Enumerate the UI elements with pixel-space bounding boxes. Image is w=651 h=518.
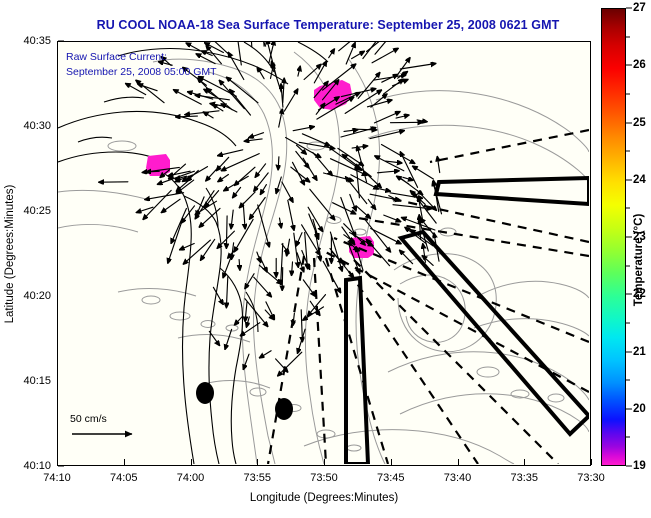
colorbar-label: Temperature (°C)	[630, 150, 648, 370]
station-marker	[275, 398, 293, 420]
colorbar-minor-tick	[626, 437, 630, 438]
current-vector	[393, 80, 409, 86]
current-vector	[224, 176, 249, 191]
current-vector	[374, 75, 406, 80]
current-vector	[230, 90, 251, 116]
x-tick-label: 74:10	[43, 472, 71, 484]
current-vector	[276, 359, 288, 372]
current-vector	[363, 42, 385, 59]
x-tick-label: 73:55	[243, 472, 271, 484]
current-vector	[278, 352, 302, 376]
y-tick-label: 40:25	[23, 205, 51, 217]
map-graphics	[58, 42, 589, 464]
current-vector	[291, 167, 310, 182]
colorbar-minor-tick	[626, 93, 630, 94]
current-vector	[146, 171, 159, 172]
current-vector	[400, 152, 417, 188]
current-vector	[294, 233, 299, 267]
current-vector	[358, 73, 380, 99]
current-vector	[221, 104, 237, 112]
current-vector	[237, 42, 241, 65]
annotation-line-1: Raw Surface Current:	[66, 50, 217, 65]
colorbar-tick-mark	[626, 122, 632, 123]
current-vector	[168, 222, 182, 263]
current-vector	[249, 133, 264, 138]
y-tick-label: 40:30	[23, 120, 51, 132]
current-vector	[375, 112, 401, 123]
current-vector	[282, 182, 293, 202]
current-vector	[279, 109, 283, 127]
current-vector	[350, 195, 356, 211]
current-vector	[351, 175, 378, 189]
y-tick-label: 40:15	[23, 375, 51, 387]
map-canvas: Raw Surface Current: September 25, 2008 …	[58, 42, 590, 465]
current-vector	[239, 192, 255, 208]
current-vector	[223, 252, 233, 278]
current-vector	[286, 138, 321, 158]
map-plot-area[interactable]: Raw Surface Current: September 25, 2008 …	[57, 41, 591, 466]
current-vector	[259, 265, 281, 284]
current-vector	[323, 261, 340, 292]
current-vector	[372, 48, 398, 63]
x-tick-mark	[391, 459, 392, 465]
colorbar-tick-mark	[626, 408, 632, 409]
current-vector	[161, 199, 180, 212]
current-vector	[245, 302, 247, 322]
current-vector	[423, 244, 426, 263]
x-tick-mark	[57, 459, 58, 465]
x-tick-mark	[524, 459, 525, 465]
current-vector	[413, 166, 434, 179]
x-tick-mark	[591, 459, 592, 465]
current-vector	[357, 146, 367, 182]
x-tick-mark	[124, 459, 125, 465]
x-tick-label: 74:00	[177, 472, 205, 484]
current-vector	[303, 158, 317, 180]
current-vector	[437, 157, 439, 173]
colorbar-tick-mark	[626, 65, 632, 66]
shipping-lane	[436, 178, 589, 204]
colorbar-tick-label: 25	[633, 117, 646, 129]
current-vector	[260, 185, 266, 195]
current-vector	[171, 209, 186, 244]
current-vector	[417, 120, 427, 122]
current-vector	[293, 127, 314, 131]
current-vector	[145, 193, 184, 200]
current-vector	[296, 233, 302, 246]
current-vector	[226, 277, 227, 308]
current-vector	[356, 206, 370, 219]
sst-map-figure: RU COOL NOAA-18 Sea Surface Temperature:…	[0, 0, 651, 518]
x-tick-label: 74:05	[110, 472, 138, 484]
current-vector	[396, 115, 409, 118]
current-vector	[254, 277, 272, 297]
current-vector	[284, 89, 297, 111]
colorbar-minor-tick	[626, 380, 630, 381]
current-vector	[403, 177, 413, 180]
y-tick-label: 40:20	[23, 290, 51, 302]
current-vector	[378, 171, 400, 173]
shipping-lane	[346, 278, 368, 464]
current-vector	[352, 51, 365, 58]
colorbar-tick-label: 26	[633, 59, 646, 71]
current-vector	[298, 329, 306, 353]
current-vector	[384, 79, 404, 94]
x-tick-label: 73:35	[510, 472, 538, 484]
current-vector	[239, 260, 240, 271]
current-vector	[143, 190, 171, 219]
colorbar-minor-tick	[626, 36, 630, 37]
current-vector	[352, 129, 376, 130]
current-vector	[266, 302, 275, 319]
current-vector	[344, 130, 358, 132]
current-vector	[293, 313, 295, 325]
annotation-line-2: September 25, 2008 05:00 GMT	[66, 65, 217, 80]
current-vector	[352, 146, 368, 148]
current-vector	[324, 173, 354, 181]
current-vector	[206, 166, 219, 181]
current-vector	[218, 175, 229, 182]
current-vector	[228, 52, 244, 79]
current-vector	[282, 268, 283, 291]
current-annotation: Raw Surface Current: September 25, 2008 …	[66, 50, 217, 80]
current-vector	[209, 331, 219, 345]
current-vector	[246, 317, 249, 327]
current-vector	[240, 323, 259, 336]
current-vector	[384, 215, 401, 222]
temperature-colorbar[interactable]	[601, 8, 626, 466]
current-vector	[280, 218, 282, 228]
x-axis-label: Longitude (Degrees:Minutes)	[57, 492, 591, 504]
current-vector	[288, 200, 294, 230]
x-tick-mark	[191, 459, 192, 465]
current-vector	[245, 299, 268, 327]
current-vector	[283, 78, 284, 102]
velocity-scale-bar: 50 cm/s	[64, 413, 174, 443]
current-vector	[260, 351, 272, 358]
current-vector	[226, 216, 227, 248]
current-vector	[329, 49, 335, 58]
current-vector	[231, 210, 233, 229]
colorbar-tick-mark	[626, 466, 632, 467]
colorbar-tick-mark	[626, 8, 632, 9]
current-vector	[292, 262, 293, 276]
current-vector	[346, 43, 355, 64]
current-vector	[235, 316, 243, 325]
current-vector	[378, 189, 391, 192]
x-tick-label: 73:30	[577, 472, 605, 484]
colorbar-tick-label: 27	[633, 2, 646, 14]
current-vector	[281, 84, 283, 107]
y-tick-label: 40:10	[23, 460, 51, 472]
current-vector	[243, 203, 245, 229]
current-vector	[397, 58, 410, 75]
colorbar-gradient	[602, 9, 625, 465]
current-vector	[278, 157, 279, 170]
current-vector	[371, 94, 387, 107]
current-vector	[244, 139, 262, 141]
current-vector	[301, 310, 302, 342]
current-vector	[180, 244, 195, 250]
y-axis-label: Latitude (Degrees:Minutes)	[2, 41, 18, 466]
x-tick-label: 73:50	[310, 472, 338, 484]
x-tick-label: 73:40	[444, 472, 472, 484]
station-marker	[196, 382, 214, 404]
current-vector	[233, 187, 241, 197]
colorbar-tick-label: 20	[633, 403, 646, 415]
x-tick-mark	[324, 459, 325, 465]
y-tick-label: 40:35	[23, 35, 51, 47]
current-vector	[313, 153, 333, 176]
current-vector	[185, 111, 219, 115]
x-tick-label: 73:45	[377, 472, 405, 484]
x-tick-mark	[257, 459, 258, 465]
current-vector	[262, 42, 264, 46]
current-vector	[333, 203, 356, 214]
current-vector	[176, 116, 198, 117]
colorbar-tick-label: 19	[633, 460, 646, 472]
current-vector	[298, 66, 300, 76]
current-vector	[218, 150, 243, 156]
figure-title: RU COOL NOAA-18 Sea Surface Temperature:…	[58, 18, 598, 32]
scale-bar-arrow-icon	[70, 427, 174, 443]
current-vector	[260, 257, 267, 272]
current-vector	[304, 64, 321, 79]
current-vector	[226, 77, 258, 103]
current-vector	[339, 42, 363, 51]
current-vector	[203, 112, 213, 118]
x-tick-mark	[458, 459, 459, 465]
current-vector	[234, 219, 253, 252]
current-vector	[225, 329, 232, 349]
scale-bar-label: 50 cm/s	[70, 413, 174, 425]
current-vector	[371, 229, 401, 244]
current-vector	[255, 164, 265, 178]
